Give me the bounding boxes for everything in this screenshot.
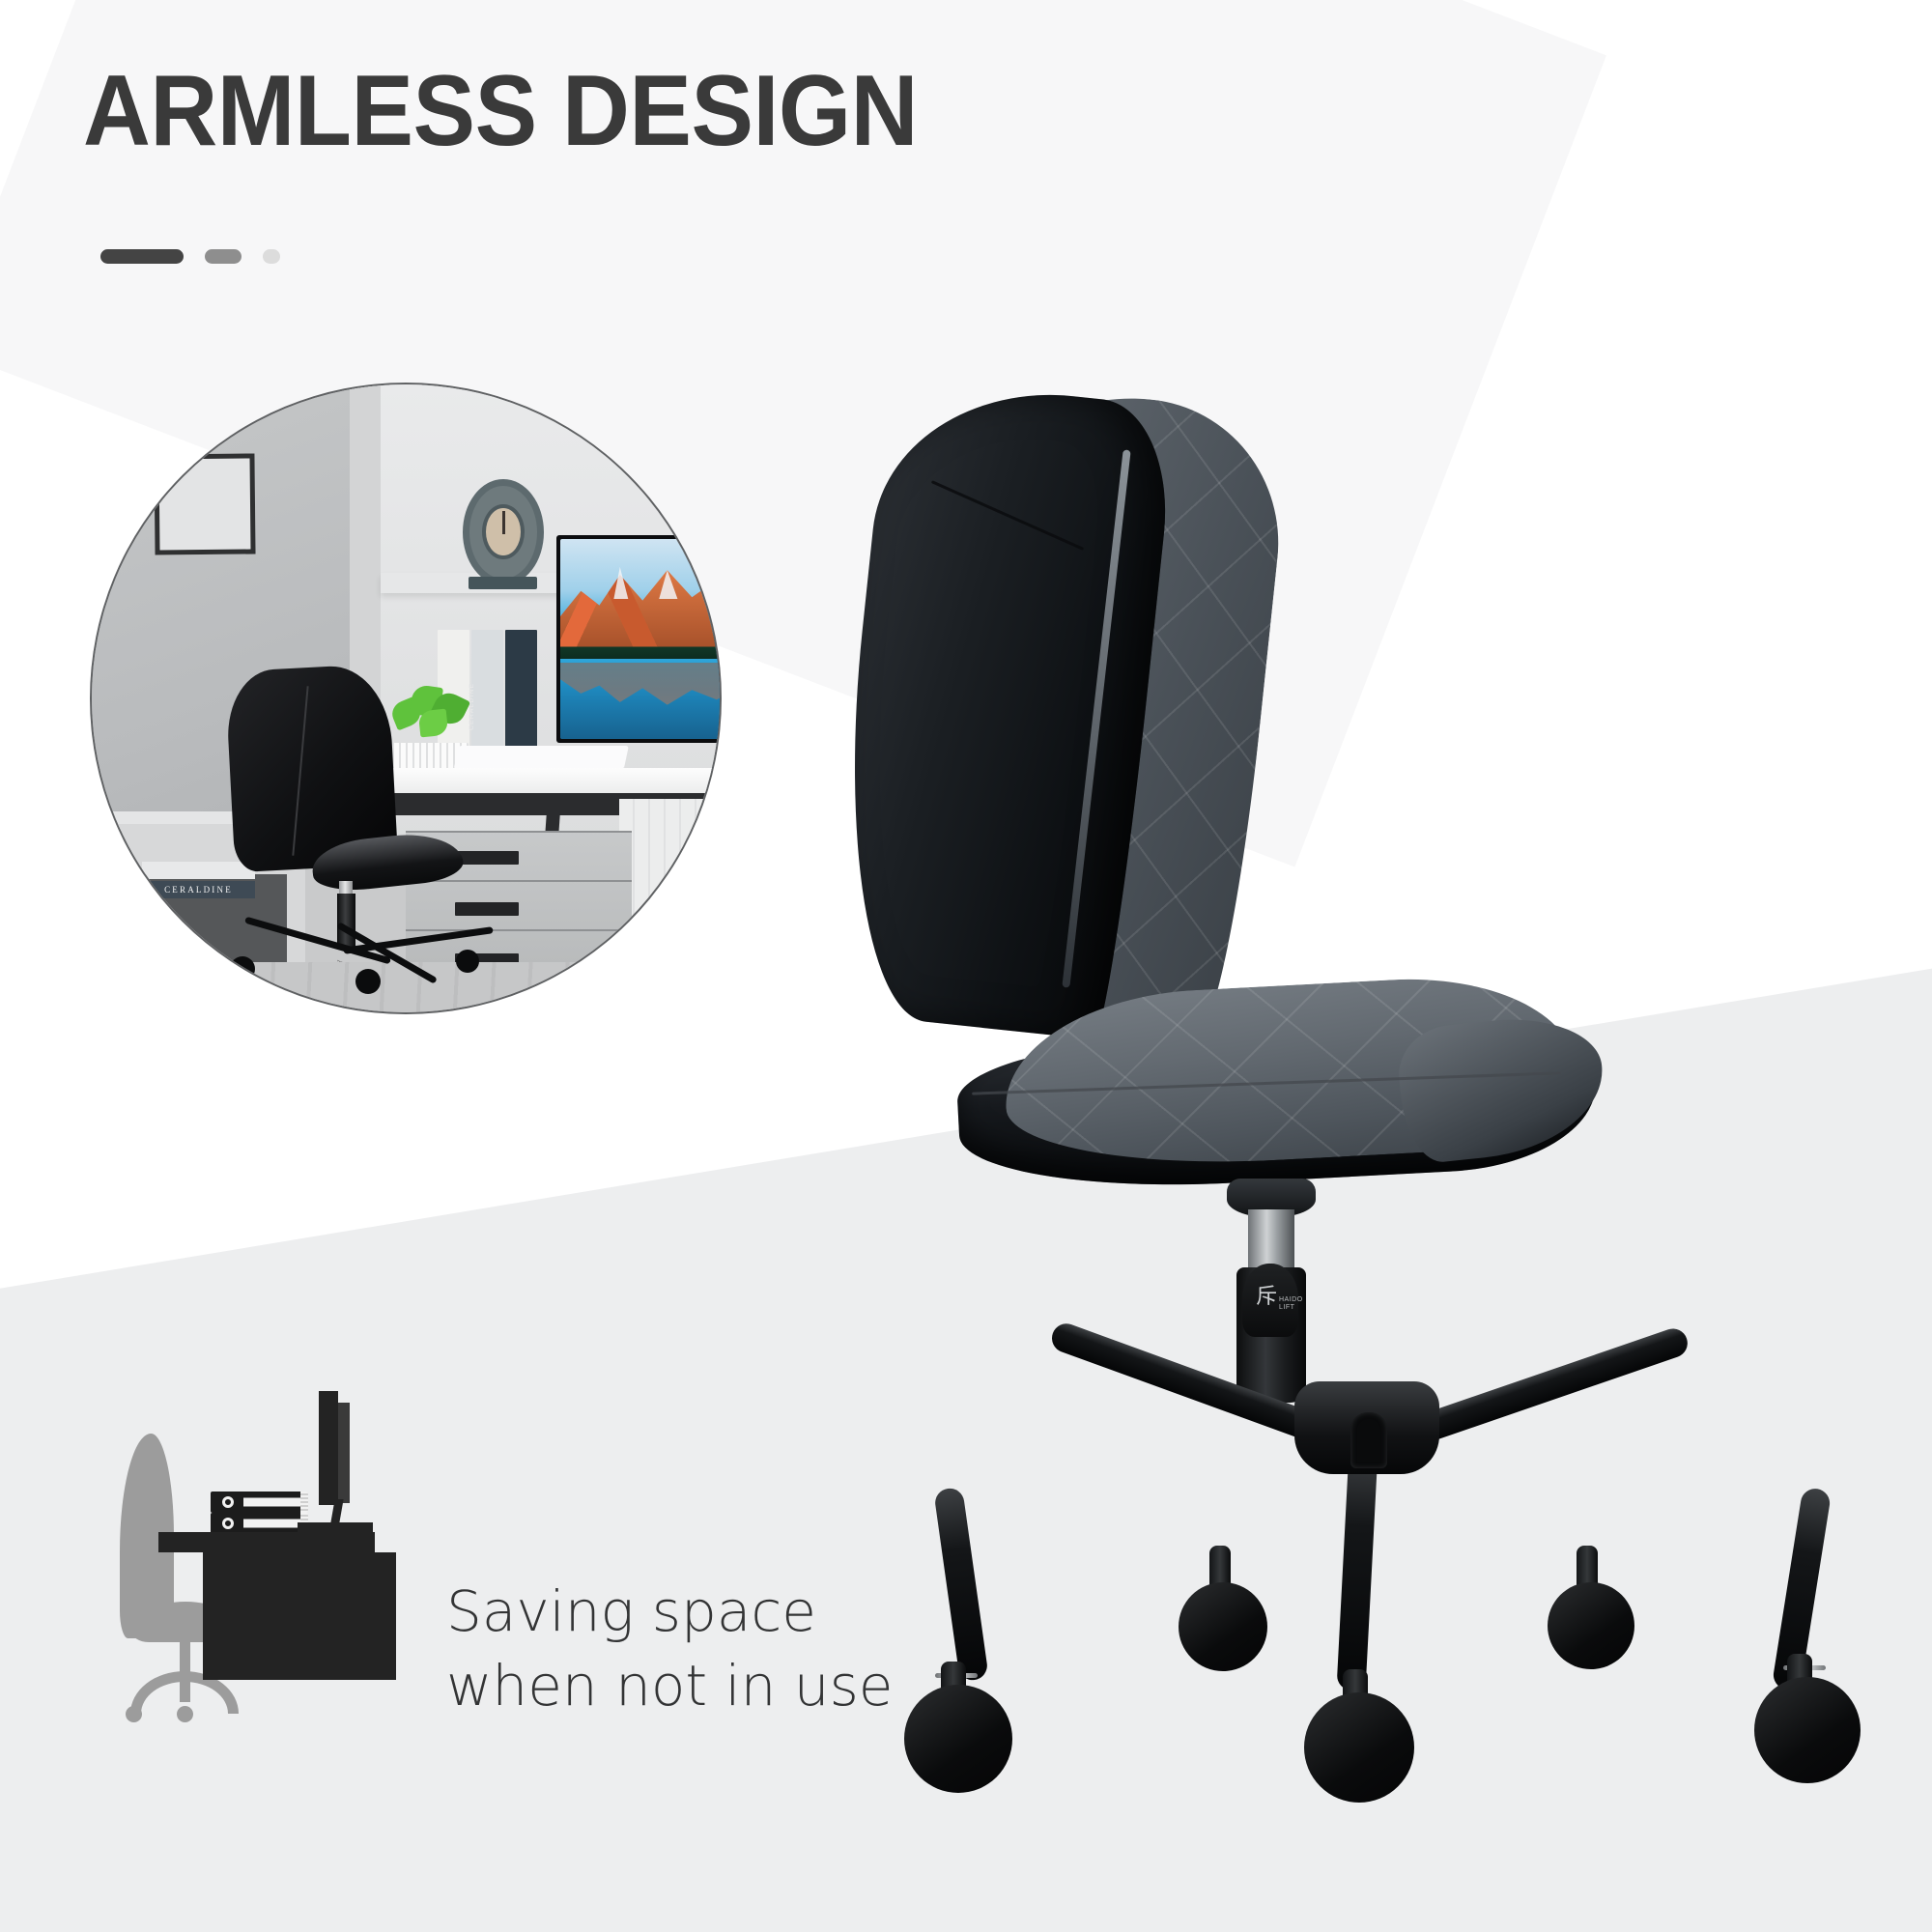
desk-surface xyxy=(343,768,720,793)
desktop-monitor xyxy=(556,535,720,743)
caster-wheel xyxy=(1304,1692,1414,1803)
seat-front-edge xyxy=(1394,1009,1609,1165)
poster-canvas: ARMLESS DESIGN xyxy=(0,0,1932,1932)
binder-bottom xyxy=(211,1513,303,1534)
monitor-wallpaper xyxy=(560,539,720,739)
product-chair-photo: 斥 HAIDOLIFT xyxy=(898,406,1874,1855)
inset-chair-gas-lift xyxy=(337,894,356,951)
dash-short-icon xyxy=(263,249,280,264)
monitor-panel-shape xyxy=(319,1391,338,1505)
five-star-base xyxy=(821,1372,1932,1874)
dash-medium-icon xyxy=(205,249,241,264)
inset-chair-caster xyxy=(230,956,255,981)
lift-brand-subtext: HAIDOLIFT xyxy=(1279,1296,1303,1311)
desk-front-panel-shape xyxy=(203,1552,396,1680)
caster-wheel xyxy=(904,1685,1012,1793)
lift-brand-glyph-icon: 斥 xyxy=(1256,1287,1277,1308)
room-scene-circular-inset: CERALDINE CERALDINE ANNU xyxy=(92,384,720,1012)
monitor-side-shape xyxy=(338,1403,350,1503)
binder-top xyxy=(211,1492,303,1513)
wood-floor xyxy=(92,962,720,1012)
caster-wheel xyxy=(1754,1677,1861,1783)
base-leg xyxy=(1336,1448,1378,1690)
industrial-porthole-clock-icon xyxy=(463,479,545,586)
stacked-book-spine-label: CERALDINE xyxy=(142,881,255,898)
chair-caster-shape xyxy=(177,1706,193,1722)
wall-art-frame xyxy=(154,453,255,554)
desk-with-tucked-chair-icon xyxy=(114,1352,375,1681)
stacked-books: CERALDINE xyxy=(142,862,255,899)
chair-caster-shape xyxy=(126,1706,142,1722)
title-divider-dashes xyxy=(100,249,280,264)
caster-wheel xyxy=(1548,1582,1634,1669)
inset-chair-caster xyxy=(355,969,381,994)
inset-chair-caster xyxy=(456,950,479,973)
page-title: ARMLESS DESIGN xyxy=(83,60,918,162)
desk-surface-shape xyxy=(158,1532,375,1552)
dash-long-icon xyxy=(100,249,184,264)
wardrobe-panel xyxy=(619,799,720,987)
base-hub-slot xyxy=(1350,1412,1387,1468)
caster-wheel xyxy=(1179,1582,1267,1671)
base-leg xyxy=(933,1487,989,1682)
